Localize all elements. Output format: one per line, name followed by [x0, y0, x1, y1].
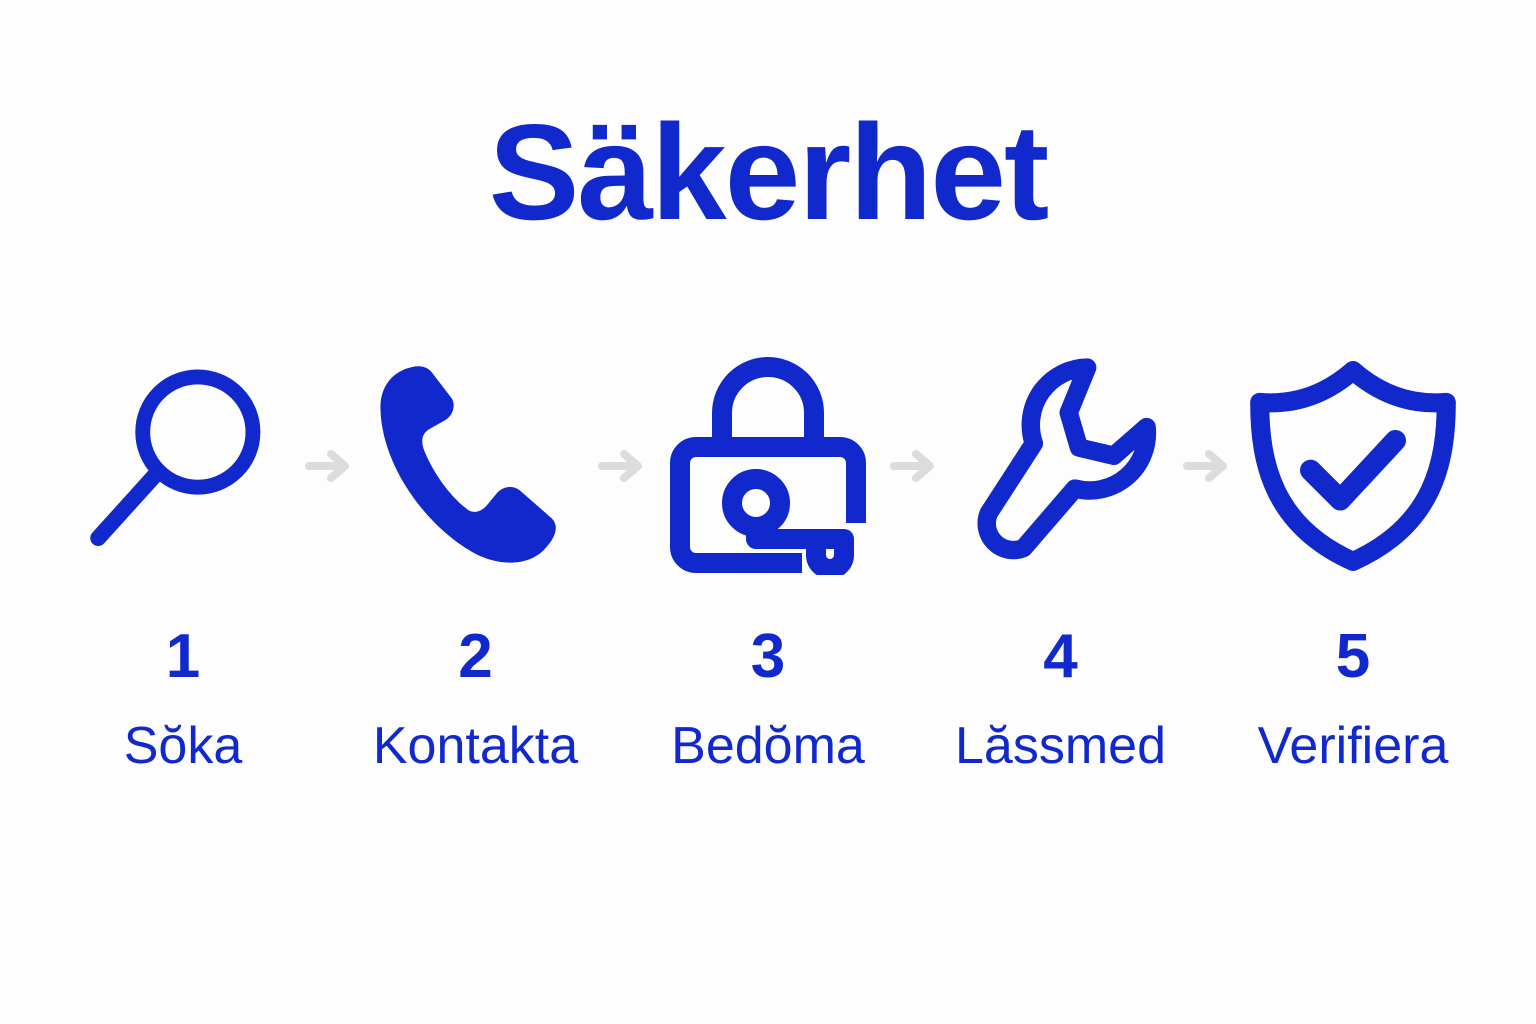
step-label: Bedŏma [671, 720, 865, 772]
magnifier-icon [68, 350, 298, 582]
step-3[interactable]: 3 Bedŏma [653, 350, 883, 772]
step-number: 5 [1336, 626, 1370, 688]
step-number: 2 [458, 626, 492, 688]
shield-check-icon [1238, 350, 1468, 582]
step-label: Kontakta [373, 720, 578, 772]
step-number: 1 [166, 626, 200, 688]
step-4[interactable]: 4 Lăssmed [946, 350, 1176, 772]
arrow-right-icon [883, 350, 945, 582]
arrow-right-icon [591, 350, 653, 582]
step-label: Lăssmed [955, 720, 1166, 772]
padlock-icon [653, 350, 883, 582]
page-title: Säkerhet [0, 104, 1536, 240]
step-2[interactable]: 2 Kontakta [361, 350, 591, 772]
arrow-right-icon [1176, 350, 1238, 582]
arrow-right-icon [298, 350, 360, 582]
steps-row: 1 Sŏka 2 Kontakta [68, 350, 1468, 772]
step-5[interactable]: 5 Verifiera [1238, 350, 1468, 772]
step-number: 3 [751, 626, 785, 688]
step-label: Verifiera [1258, 720, 1449, 772]
step-number: 4 [1043, 626, 1077, 688]
wrench-icon [946, 350, 1176, 582]
security-process-infographic: Säkerhet 1 Sŏka [0, 0, 1536, 1024]
step-label: Sŏka [124, 720, 243, 772]
phone-icon [361, 350, 591, 582]
step-1[interactable]: 1 Sŏka [68, 350, 298, 772]
